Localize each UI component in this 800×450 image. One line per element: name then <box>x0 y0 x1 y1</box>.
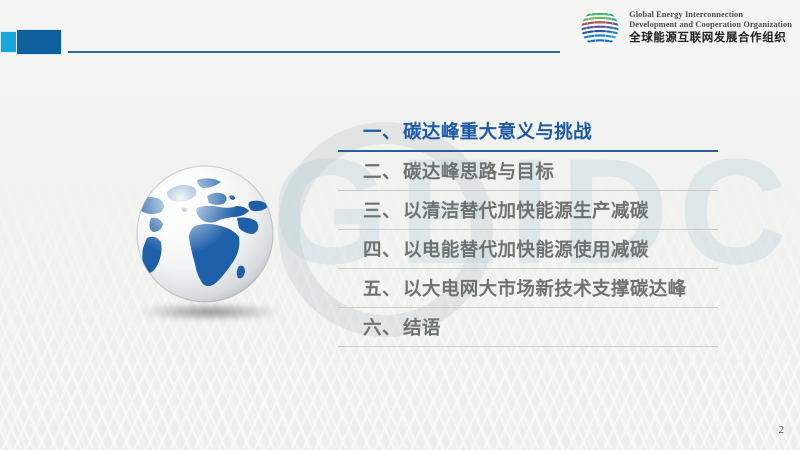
logo-text-block: Global Energy Interconnection Developmen… <box>629 10 792 45</box>
agenda-list: 一、 碳达峰重大意义与挑战 二、 碳达峰思路与目标 三、 以清洁替代加快能源生产… <box>338 112 718 347</box>
agenda-item-1[interactable]: 一、 碳达峰重大意义与挑战 <box>338 112 718 152</box>
page-number: 2 <box>779 424 785 436</box>
agenda-item-1-number: 一、 <box>363 118 401 144</box>
agenda-item-4[interactable]: 四、 以电能替代加快能源使用减碳 <box>338 230 718 269</box>
agenda-item-5[interactable]: 五、 以大电网大市场新技术支撑碳达峰 <box>338 269 718 308</box>
logo-chinese-name: 全球能源互联网发展合作组织 <box>629 32 792 46</box>
globe-earth-icon <box>133 162 278 307</box>
header-accent-blue-block <box>16 29 62 55</box>
agenda-item-3[interactable]: 三、 以清洁替代加快能源生产减碳 <box>338 191 718 230</box>
agenda-item-4-number: 四、 <box>363 236 401 262</box>
geidco-globe-logo-icon <box>578 6 622 50</box>
agenda-item-5-label: 以大电网大市场新技术支撑碳达峰 <box>403 275 687 301</box>
agenda-item-2-number: 二、 <box>363 158 401 184</box>
logo-english-line-1: Global Energy Interconnection <box>629 10 792 20</box>
agenda-item-1-label: 碳达峰重大意义与挑战 <box>403 118 592 144</box>
agenda-item-4-label: 以电能替代加快能源使用减碳 <box>403 236 649 262</box>
agenda-item-2-label: 碳达峰思路与目标 <box>403 158 554 184</box>
globe-illustration <box>133 162 283 337</box>
logo-english-line-2: Development and Cooperation Organization <box>629 20 792 30</box>
header-divider-rule <box>68 51 560 53</box>
organization-logo: Global Energy Interconnection Developmen… <box>578 6 792 50</box>
agenda-item-2[interactable]: 二、 碳达峰思路与目标 <box>338 152 718 191</box>
presentation-slide: GEIDCO <box>0 0 800 450</box>
agenda-item-6-label: 结语 <box>403 314 441 340</box>
agenda-item-5-number: 五、 <box>363 275 401 301</box>
agenda-item-3-label: 以清洁替代加快能源生产减碳 <box>403 197 649 223</box>
agenda-item-6[interactable]: 六、 结语 <box>338 308 718 347</box>
agenda-item-6-number: 六、 <box>363 314 401 340</box>
agenda-item-3-number: 三、 <box>363 197 401 223</box>
